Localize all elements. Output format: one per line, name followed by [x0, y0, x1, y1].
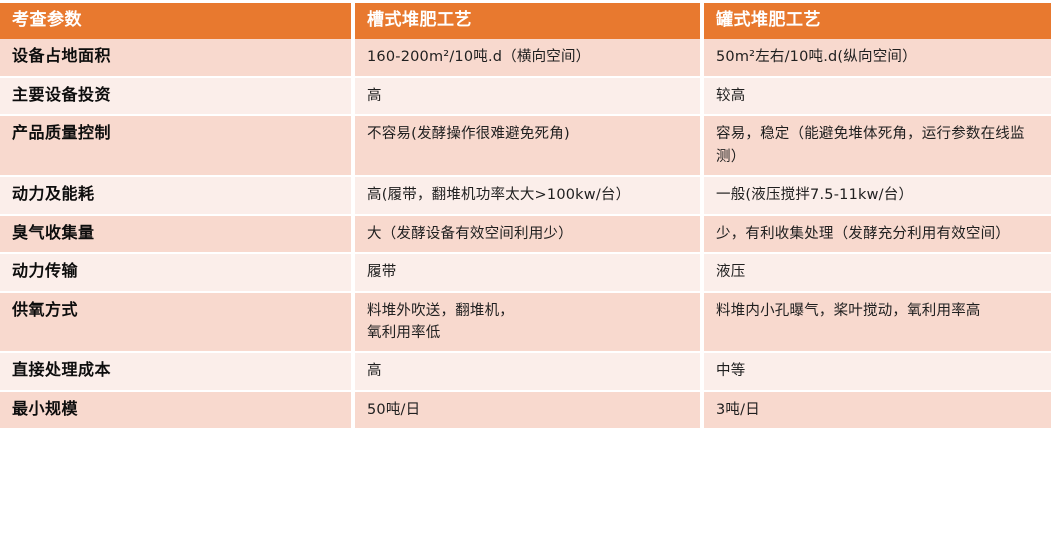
cell-trough-text: 大（发酵设备有效空间利用少）: [367, 226, 573, 242]
table-row: 动力传输履带液压: [0, 254, 1051, 292]
cell-param-text: 动力传输: [12, 261, 78, 280]
cell-param-text: 直接处理成本: [12, 360, 111, 379]
cell-trough-text: 不容易(发酵操作很难避免死角): [367, 126, 570, 142]
cell-param: 动力传输: [0, 254, 351, 292]
cell-trough: 履带: [355, 254, 700, 292]
table-row: 最小规模50吨/日3吨/日: [0, 392, 1051, 428]
cell-tank-text: 少，有利收集处理（发酵充分利用有效空间）: [716, 226, 1010, 242]
cell-trough-text: 高: [367, 88, 382, 104]
table-row: 设备占地面积160-200m²/10吨.d（横向空间）50m²左右/10吨.d(…: [0, 39, 1051, 77]
table-row: 动力及能耗高(履带，翻堆机功率太大>100kw/台）一般(液压搅拌7.5-11k…: [0, 177, 1051, 215]
cell-tank: 料堆内小孔曝气，桨叶搅动，氧利用率高: [704, 293, 1051, 354]
cell-param: 直接处理成本: [0, 353, 351, 391]
table-row: 臭气收集量大（发酵设备有效空间利用少）少，有利收集处理（发酵充分利用有效空间）: [0, 216, 1051, 254]
table-header: 考查参数 槽式堆肥工艺 罐式堆肥工艺: [0, 3, 1051, 39]
table-row: 直接处理成本高中等: [0, 353, 1051, 391]
cell-param-text: 动力及能耗: [12, 184, 95, 203]
cell-tank-text: 容易，稳定（能避免堆体死角，运行参数在线监测）: [716, 126, 1025, 164]
cell-tank: 中等: [704, 353, 1051, 391]
cell-tank-text: 料堆内小孔曝气，桨叶搅动，氧利用率高: [716, 303, 981, 319]
cell-trough: 大（发酵设备有效空间利用少）: [355, 216, 700, 254]
cell-tank: 较高: [704, 78, 1051, 116]
cell-trough: 不容易(发酵操作很难避免死角): [355, 116, 700, 177]
cell-tank-text: 中等: [716, 363, 745, 379]
compost-process-comparison-table: 考查参数 槽式堆肥工艺 罐式堆肥工艺 设备占地面积160-200m²/10吨.d…: [0, 3, 1051, 428]
table-header-row: 考查参数 槽式堆肥工艺 罐式堆肥工艺: [0, 3, 1051, 39]
cell-trough: 高: [355, 353, 700, 391]
column-header-trough: 槽式堆肥工艺: [355, 3, 700, 39]
cell-param-text: 最小规模: [12, 399, 78, 418]
cell-param: 主要设备投资: [0, 78, 351, 116]
cell-tank-text: 3吨/日: [716, 402, 760, 418]
cell-param: 产品质量控制: [0, 116, 351, 177]
cell-tank-text: 较高: [716, 88, 745, 104]
cell-tank: 一般(液压搅拌7.5-11kw/台）: [704, 177, 1051, 215]
cell-trough-text: 履带: [367, 264, 396, 280]
table-row: 主要设备投资高较高: [0, 78, 1051, 116]
column-header-tank: 罐式堆肥工艺: [704, 3, 1051, 39]
cell-trough: 料堆外吹送，翻堆机， 氧利用率低: [355, 293, 700, 354]
column-header-param: 考查参数: [0, 3, 351, 39]
cell-param: 设备占地面积: [0, 39, 351, 77]
cell-param: 供氧方式: [0, 293, 351, 354]
cell-param: 动力及能耗: [0, 177, 351, 215]
cell-trough: 高: [355, 78, 700, 116]
cell-trough-text: 高(履带，翻堆机功率太大>100kw/台）: [367, 187, 630, 203]
cell-param-text: 产品质量控制: [12, 123, 111, 142]
cell-param-text: 主要设备投资: [12, 85, 111, 104]
cell-trough: 160-200m²/10吨.d（横向空间）: [355, 39, 700, 77]
cell-tank-text: 液压: [716, 264, 745, 280]
cell-trough: 高(履带，翻堆机功率太大>100kw/台）: [355, 177, 700, 215]
table-row: 产品质量控制不容易(发酵操作很难避免死角)容易，稳定（能避免堆体死角，运行参数在…: [0, 116, 1051, 177]
cell-param: 最小规模: [0, 392, 351, 428]
cell-tank: 50m²左右/10吨.d(纵向空间）: [704, 39, 1051, 77]
table-body: 设备占地面积160-200m²/10吨.d（横向空间）50m²左右/10吨.d(…: [0, 39, 1051, 428]
cell-trough: 50吨/日: [355, 392, 700, 428]
cell-tank: 3吨/日: [704, 392, 1051, 428]
cell-trough-text: 50吨/日: [367, 402, 420, 418]
cell-tank: 少，有利收集处理（发酵充分利用有效空间）: [704, 216, 1051, 254]
cell-param-text: 设备占地面积: [12, 46, 111, 65]
cell-tank-text: 50m²左右/10吨.d(纵向空间）: [716, 49, 917, 65]
table-row: 供氧方式料堆外吹送，翻堆机， 氧利用率低料堆内小孔曝气，桨叶搅动，氧利用率高: [0, 293, 1051, 354]
cell-tank-text: 一般(液压搅拌7.5-11kw/台）: [716, 187, 913, 203]
cell-trough-text: 高: [367, 363, 382, 379]
cell-tank: 容易，稳定（能避免堆体死角，运行参数在线监测）: [704, 116, 1051, 177]
cell-trough-text: 160-200m²/10吨.d（横向空间）: [367, 49, 590, 65]
cell-trough-text: 料堆外吹送，翻堆机， 氧利用率低: [367, 303, 514, 341]
cell-param: 臭气收集量: [0, 216, 351, 254]
cell-param-text: 供氧方式: [12, 300, 78, 319]
cell-tank: 液压: [704, 254, 1051, 292]
cell-param-text: 臭气收集量: [12, 223, 95, 242]
